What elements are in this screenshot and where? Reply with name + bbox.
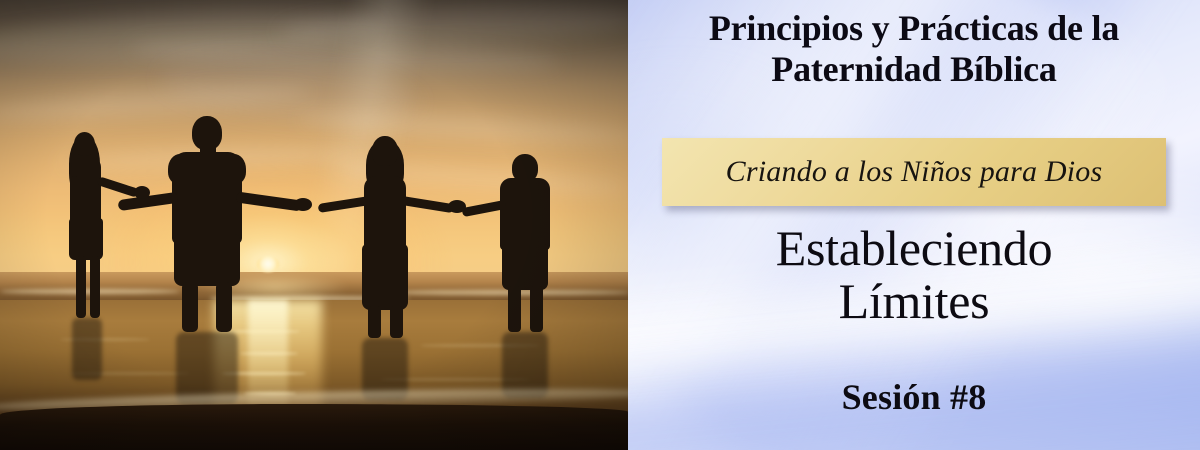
father-silhouette xyxy=(182,282,198,332)
mother-silhouette xyxy=(362,244,408,310)
joined-hands xyxy=(294,198,312,211)
session-topic-line-1: Estableciendo xyxy=(628,222,1200,275)
son-silhouette xyxy=(502,244,548,290)
figure-reflection xyxy=(72,318,102,380)
session-topic: Estableciendo Límites xyxy=(628,222,1200,328)
slide-root: Principios y Prácticas de la Paternidad … xyxy=(0,0,1200,450)
mother-silhouette xyxy=(368,306,381,338)
title-panel: Principios y Prácticas de la Paternidad … xyxy=(628,0,1200,450)
daughter-silhouette xyxy=(69,218,103,260)
figure-reflection xyxy=(502,332,548,398)
subtitle-banner: Criando a los Niños para Dios xyxy=(662,138,1166,206)
daughter-silhouette xyxy=(74,132,95,156)
course-title: Principios y Prácticas de la Paternidad … xyxy=(628,8,1200,90)
subtitle-banner-text: Criando a los Niños para Dios xyxy=(726,155,1103,189)
joined-hands xyxy=(448,200,466,213)
course-title-line-1: Principios y Prácticas de la xyxy=(640,8,1188,49)
panel-content: Principios y Prácticas de la Paternidad … xyxy=(628,0,1200,450)
father-silhouette xyxy=(172,152,242,244)
mother-silhouette xyxy=(364,176,406,250)
daughter-silhouette xyxy=(90,256,100,318)
course-title-line-2: Paternidad Bíblica xyxy=(640,49,1188,90)
foreground-sand xyxy=(0,404,628,450)
father-silhouette xyxy=(174,234,240,286)
sun-disc xyxy=(257,256,279,272)
joined-hands xyxy=(134,186,150,199)
son-silhouette xyxy=(500,178,550,250)
mother-silhouette xyxy=(390,306,403,338)
water-shimmer xyxy=(226,330,300,333)
father-silhouette xyxy=(216,282,232,332)
family-sunset-photo xyxy=(0,0,628,450)
daughter-silhouette xyxy=(76,256,86,318)
son-silhouette xyxy=(530,286,543,332)
session-topic-line-2: Límites xyxy=(628,275,1200,328)
mother-silhouette xyxy=(372,136,398,166)
son-silhouette xyxy=(508,286,521,332)
session-number: Sesión #8 xyxy=(628,376,1200,418)
water-shimmer xyxy=(240,352,298,355)
